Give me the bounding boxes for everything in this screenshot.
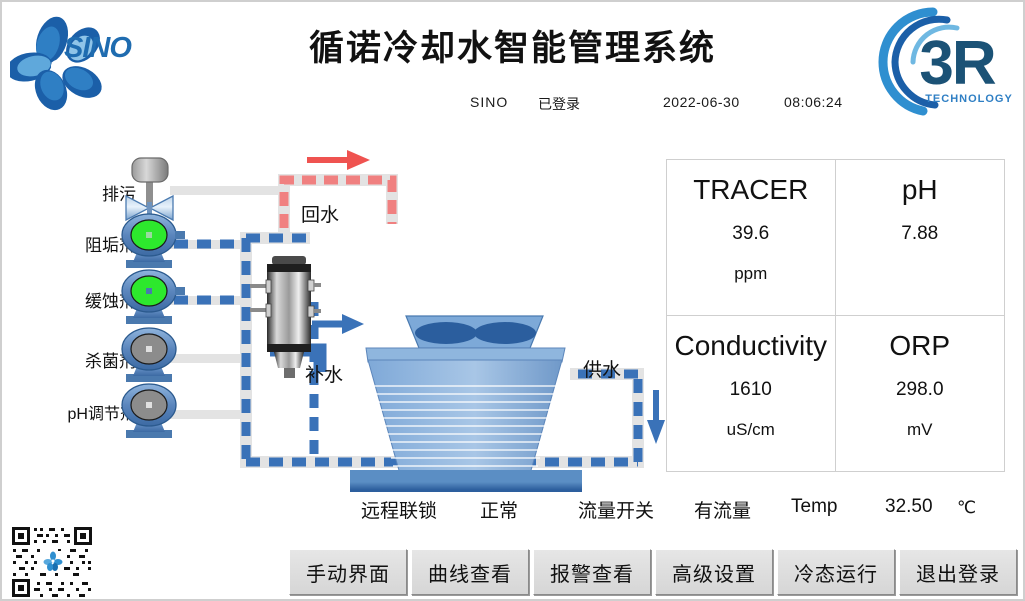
measurement-unit: ppm <box>734 264 767 284</box>
measurement-ph: pH 7.88 <box>836 160 1005 316</box>
pump-biocide <box>122 328 176 382</box>
pump-ph-adjuster <box>122 384 176 438</box>
flow-switch-label: 流量开关 <box>578 496 654 523</box>
temperature-value: 32.50 <box>885 496 933 518</box>
system-date: 2022-06-30 <box>663 94 740 110</box>
return-flow-arrow <box>307 150 370 170</box>
label-supply-water: 供水 <box>583 355 621 382</box>
measurement-name: ORP <box>889 328 950 363</box>
qr-code <box>10 525 96 599</box>
supply-flow-arrow <box>647 390 665 444</box>
hmi-window: SINO 循诺冷却水智能管理系统 SINO 已登录 2022-06-30 08:… <box>0 0 1025 601</box>
manual-interface-button[interactable]: 手动界面 <box>289 549 407 595</box>
remote-interlock-value: 正常 <box>480 496 518 523</box>
measurement-value: 7.88 <box>901 223 938 245</box>
trend-curve-button[interactable]: 曲线查看 <box>411 549 529 595</box>
logout-button[interactable]: 退出登录 <box>899 549 1017 595</box>
measurement-orp: ORP 298.0 mV <box>836 316 1005 472</box>
temperature-unit: ℃ <box>957 498 976 518</box>
status-row: 远程联锁 正常 流量开关 有流量 Temp 32.50 ℃ <box>2 496 1023 532</box>
user-name: SINO <box>470 94 508 110</box>
temperature-label: Temp <box>791 496 837 518</box>
measurement-tracer: TRACER 39.6 ppm <box>667 160 836 316</box>
login-status: 已登录 <box>538 94 580 114</box>
header: SINO 循诺冷却水智能管理系统 SINO 已登录 2022-06-30 08:… <box>2 2 1023 130</box>
measurement-unit: mV <box>907 420 933 440</box>
measurement-value: 39.6 <box>732 223 769 245</box>
cold-start-button[interactable]: 冷态运行 <box>777 549 895 595</box>
measurement-panel: TRACER 39.6 ppm pH 7.88 Conductivity 161… <box>666 159 1005 472</box>
svg-text:3R: 3R <box>919 29 995 98</box>
remote-interlock-label: 远程联锁 <box>361 496 437 523</box>
measurement-name: TRACER <box>693 172 808 207</box>
process-diagram <box>2 132 667 492</box>
flow-switch-value: 有流量 <box>694 496 751 523</box>
pump-scale-inhibitor <box>122 214 185 268</box>
3r-technology-logo: 3R TECHNOLOGY <box>861 6 1013 118</box>
measurement-conductivity: Conductivity 1610 uS/cm <box>667 316 836 472</box>
measurement-value: 1610 <box>730 379 772 401</box>
svg-text:TECHNOLOGY: TECHNOLOGY <box>925 93 1013 105</box>
label-makeup-water: 补水 <box>305 360 343 387</box>
navigation-button-bar: 手动界面 曲线查看 报警查看 高级设置 冷态运行 退出登录 <box>289 549 1017 595</box>
alarm-view-button[interactable]: 报警查看 <box>533 549 651 595</box>
pump-corrosion-inhibitor <box>122 270 185 324</box>
advanced-settings-button[interactable]: 高级设置 <box>655 549 773 595</box>
measurement-name: Conductivity <box>674 328 827 363</box>
blowdown-valve <box>126 158 173 220</box>
system-time: 08:06:24 <box>784 94 843 110</box>
measurement-name: pH <box>902 172 938 207</box>
label-return-water: 回水 <box>301 200 339 227</box>
measurement-value: 298.0 <box>896 379 944 401</box>
makeup-flow-arrow <box>312 314 364 334</box>
measurement-unit: uS/cm <box>727 420 775 440</box>
